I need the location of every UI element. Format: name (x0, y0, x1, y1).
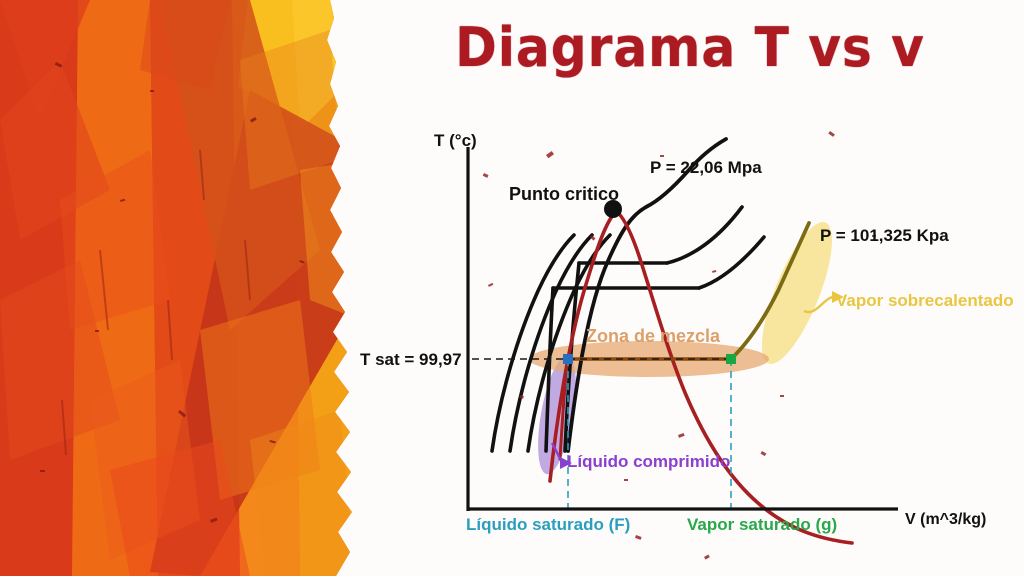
saturated-liquid-marker (563, 354, 573, 364)
decorative-banner (0, 0, 360, 576)
diagram-canvas: Diagrama T vs v (0, 0, 1024, 576)
x-axis-label: V (m^3/kg) (905, 511, 986, 529)
mixture-zone-label: Zona de mezcla (586, 326, 720, 347)
y-axis-label: T (°c) (434, 131, 477, 151)
tsat-label: T sat = 99,97 (360, 350, 462, 370)
isobar-tie-lines (553, 207, 764, 288)
page-title: Diagrama T vs v (411, 16, 969, 79)
compressed-liquid-label: Líquido comprimido (567, 452, 730, 472)
saturated-vapor-label: Vapor saturado (g) (687, 515, 837, 535)
critical-point-label: Punto critico (509, 184, 619, 205)
pressure-critical-label: P = 22,06 Mpa (650, 158, 762, 178)
saturated-vapor-marker (726, 354, 736, 364)
banner-polygons (0, 0, 360, 576)
pressure-atmospheric-label: P = 101,325 Kpa (820, 226, 949, 246)
superheated-vapor-label: Vapor sobrecalentado (836, 291, 1014, 311)
saturated-liquid-label: Líquido saturado (F) (466, 515, 630, 535)
